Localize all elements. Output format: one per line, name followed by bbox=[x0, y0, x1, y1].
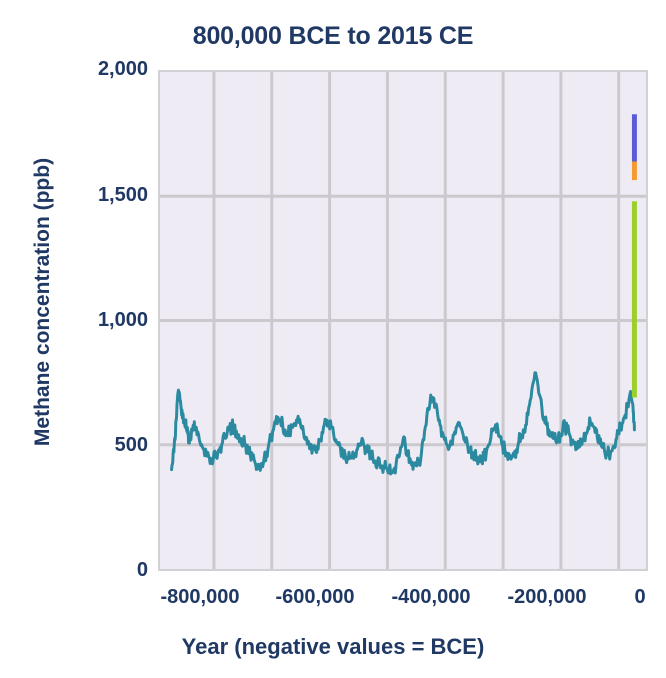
x-tick-0: 0 bbox=[634, 586, 645, 609]
plot-svg bbox=[160, 72, 646, 569]
x-tick-neg-600000: -600,000 bbox=[276, 586, 355, 609]
x-axis-title: Year (negative values = BCE) bbox=[0, 634, 666, 660]
horizontal-gridlines bbox=[160, 196, 646, 445]
x-tick-neg-400000: -400,000 bbox=[392, 586, 471, 609]
plot-area bbox=[158, 70, 648, 571]
y-axis-title: Methane concentration (ppb) bbox=[31, 87, 55, 517]
ice-core-series-line bbox=[172, 373, 635, 474]
y-tick-2000: 2,000 bbox=[30, 58, 148, 81]
y-tick-0: 0 bbox=[30, 559, 148, 582]
methane-concentration-chart: 800,000 BCE to 2015 CE 2,000 1,500 1,000… bbox=[0, 0, 666, 678]
x-tick-neg-200000: -200,000 bbox=[508, 586, 587, 609]
x-tick-neg-800000: -800,000 bbox=[161, 586, 240, 609]
